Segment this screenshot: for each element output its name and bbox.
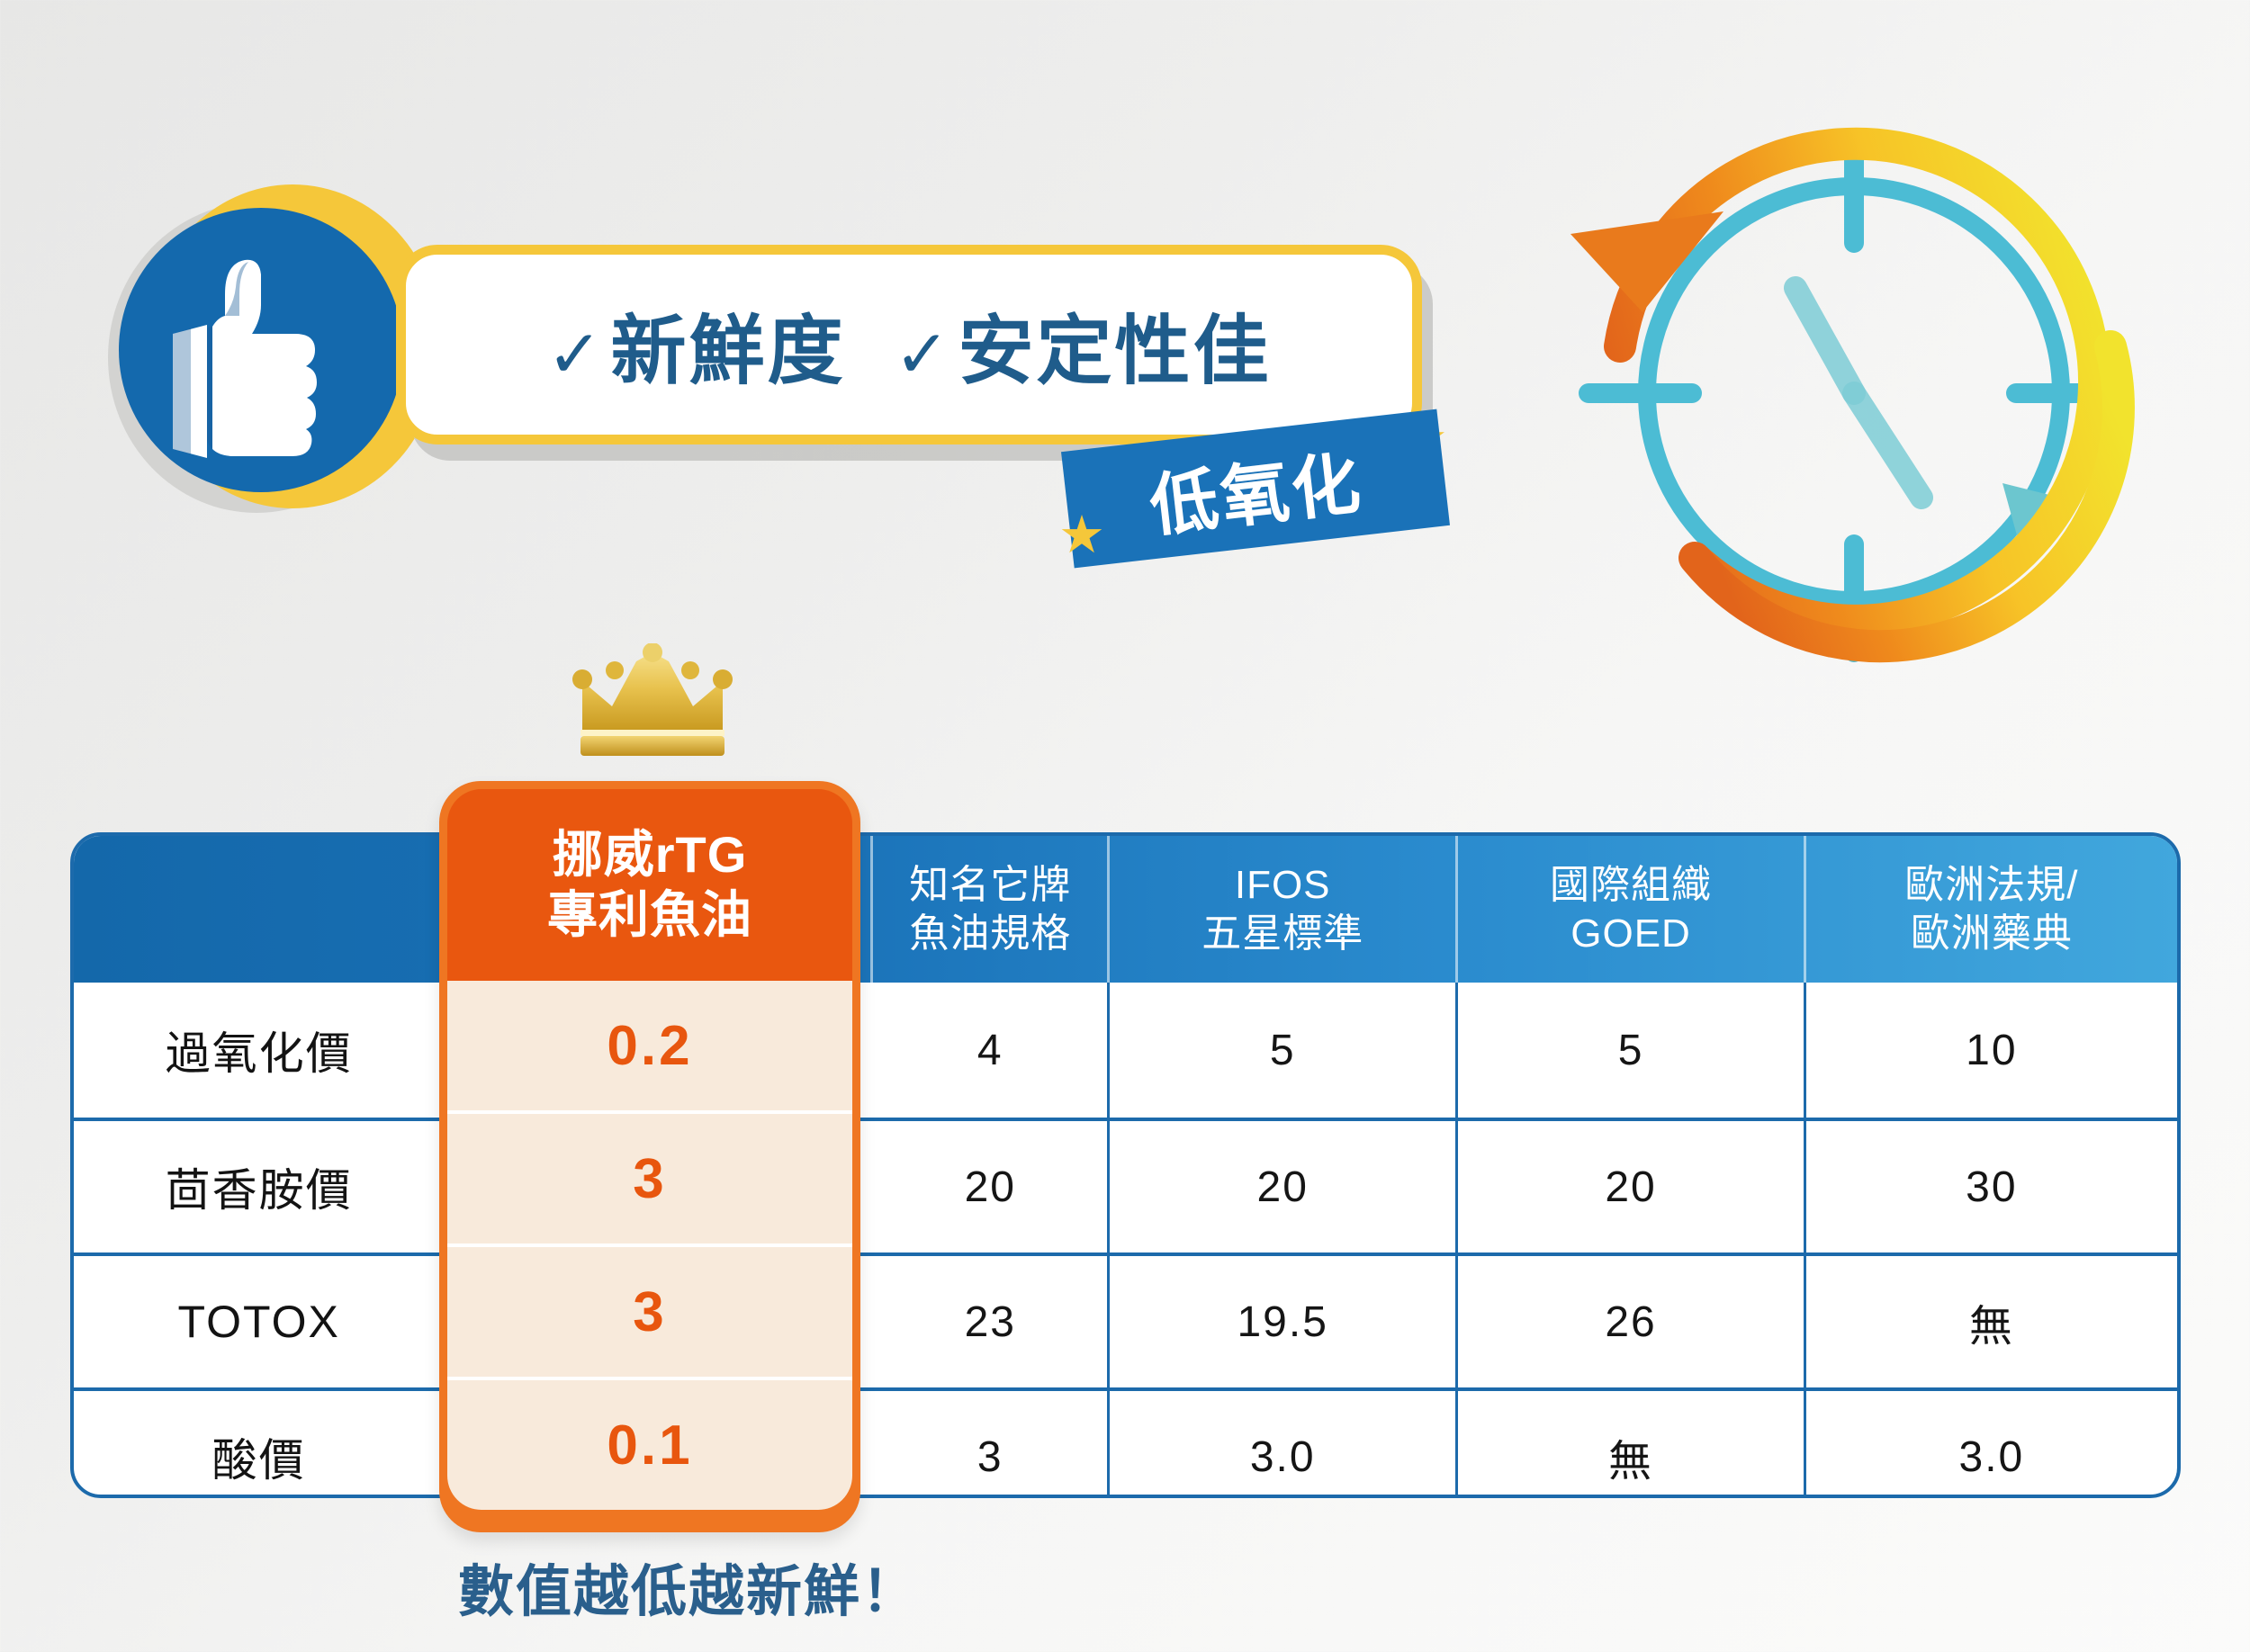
cell-other-brand: 4 bbox=[873, 983, 1110, 1118]
row-label: 茴香胺價 bbox=[74, 1121, 444, 1252]
cell-goed: 26 bbox=[1458, 1256, 1805, 1387]
crown-badge bbox=[562, 643, 742, 760]
highlight-value: 3 bbox=[447, 1247, 852, 1380]
highlight-card-title: 挪威rTG 專利魚油 bbox=[447, 789, 852, 981]
cell-ifos: 19.5 bbox=[1110, 1256, 1458, 1387]
highlight-title-line1: 挪威rTG bbox=[553, 825, 748, 884]
cell-ifos: 3.0 bbox=[1110, 1391, 1458, 1498]
table-header-ifos: IFOS 五星標準 bbox=[1110, 836, 1458, 983]
clock-refresh-graphic: 新鮮漁獲迅速提煉 保持產品新鮮度 bbox=[1534, 76, 2173, 706]
crown-icon bbox=[562, 643, 742, 760]
highlight-column-card: 挪威rTG 專利魚油 0.2 3 3 0.1 bbox=[439, 781, 860, 1532]
cell-ifos: 20 bbox=[1110, 1121, 1458, 1252]
highlight-card-values: 0.2 3 3 0.1 bbox=[447, 981, 852, 1510]
table-row: 酸價 3 3.0 無 3.0 bbox=[74, 1387, 2177, 1498]
cell-other-brand: 3 bbox=[873, 1391, 1110, 1498]
star-icon-bottom: ★ bbox=[1058, 504, 1105, 565]
table-header-blank bbox=[74, 836, 444, 983]
cell-goed: 無 bbox=[1458, 1391, 1805, 1498]
highlight-value: 3 bbox=[447, 1114, 852, 1247]
thumbs-up-badge bbox=[108, 184, 432, 508]
row-label: 酸價 bbox=[74, 1391, 444, 1498]
row-label: 過氧化價 bbox=[74, 983, 444, 1118]
cell-ifos: 5 bbox=[1110, 983, 1458, 1118]
low-oxidation-label: 低氧化 bbox=[1144, 427, 1367, 550]
cell-eu: 無 bbox=[1806, 1256, 2177, 1387]
feature-banner-text: ✓新鮮度 ✓安定性佳 bbox=[546, 291, 1271, 400]
feature-banner: ✓新鮮度 ✓安定性佳 bbox=[396, 245, 1422, 444]
table-header-other-brand: 知名它牌 魚油規格 bbox=[873, 836, 1110, 983]
thumbs-up-icon bbox=[119, 208, 403, 492]
cell-eu: 30 bbox=[1806, 1121, 2177, 1252]
cell-other-brand: 23 bbox=[873, 1256, 1110, 1387]
cell-goed: 5 bbox=[1458, 983, 1805, 1118]
table-row: TOTOX 23 19.5 26 無 bbox=[74, 1252, 2177, 1387]
table-header-row: 挪威rTG 專利魚油 知名它牌 魚油規格 IFOS 五星標準 國際組織 GOED bbox=[74, 836, 2177, 983]
cell-eu: 3.0 bbox=[1806, 1391, 2177, 1498]
comparison-table: 挪威rTG 專利魚油 知名它牌 魚油規格 IFOS 五星標準 國際組織 GOED bbox=[70, 832, 2181, 1498]
cell-goed: 20 bbox=[1458, 1121, 1805, 1252]
cell-eu: 10 bbox=[1806, 983, 2177, 1118]
table-row: 茴香胺價 20 20 20 30 bbox=[74, 1118, 2177, 1252]
table-body: 過氧化價 4 5 5 10 茴香胺價 20 20 20 30 TOTOX 23 … bbox=[74, 983, 2177, 1498]
footer-note: 數值越低越新鮮！ bbox=[409, 1546, 967, 1627]
check-icon-2: ✓安定性佳 bbox=[895, 291, 1272, 400]
clock-refresh-icon bbox=[1534, 76, 2173, 706]
table-row: 過氧化價 4 5 5 10 bbox=[74, 983, 2177, 1118]
highlight-value: 0.2 bbox=[447, 981, 852, 1114]
row-label: TOTOX bbox=[74, 1256, 444, 1387]
cell-other-brand: 20 bbox=[873, 1121, 1110, 1252]
highlight-title-line2: 專利魚油 bbox=[547, 885, 752, 945]
check-icon-1: ✓新鮮度 bbox=[546, 291, 845, 400]
table-header-goed: 國際組織 GOED bbox=[1458, 836, 1805, 983]
table-header-eu: 歐洲法規/ 歐洲藥典 bbox=[1806, 836, 2177, 983]
highlight-value: 0.1 bbox=[447, 1380, 852, 1510]
